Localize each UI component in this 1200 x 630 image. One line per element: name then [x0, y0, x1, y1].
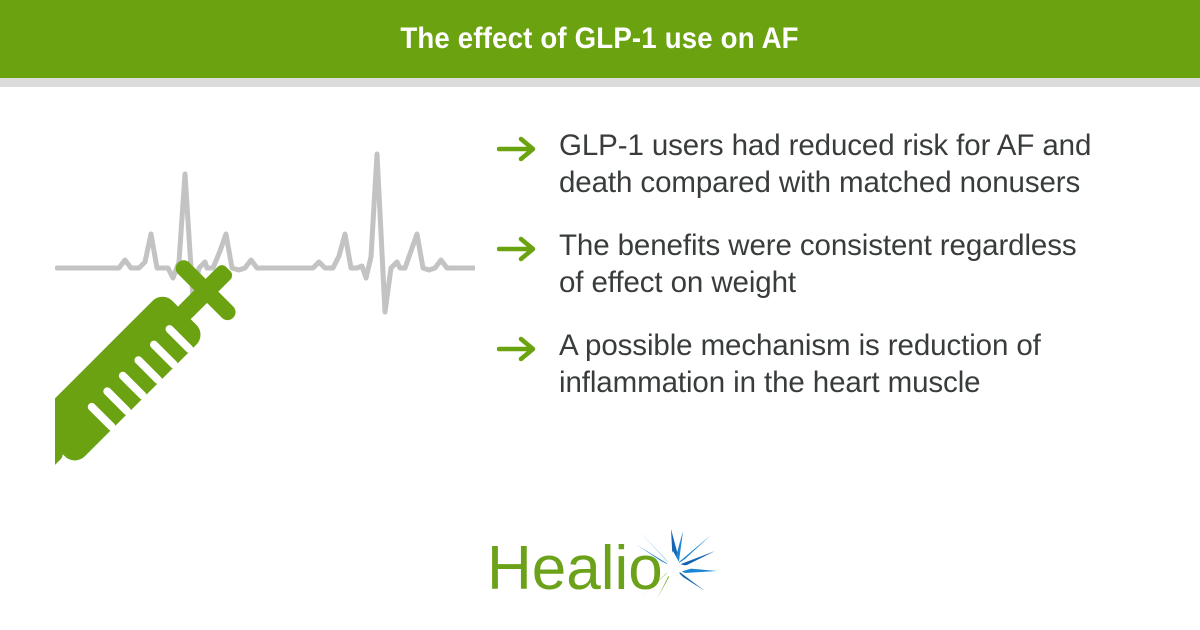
header-bar: The effect of GLP-1 use on AF: [0, 0, 1200, 78]
healio-wordmark: Healio: [487, 534, 663, 603]
syringe-icon: [55, 241, 255, 558]
infographic-card: The effect of GLP-1 use on AF: [0, 0, 1200, 630]
page-title: The effect of GLP-1 use on AF: [401, 22, 799, 56]
bullet-text: A possible mechanism is reduction of inf…: [559, 327, 1097, 401]
arrow-right-icon: [497, 127, 559, 162]
bullet-item: The benefits were consistent regardless …: [497, 227, 1097, 301]
arrow-right-icon: [497, 327, 559, 362]
bullet-text: The benefits were consistent regardless …: [559, 227, 1097, 301]
healio-logo: Healio: [487, 527, 727, 609]
bullet-list: GLP-1 users had reduced risk for AF and …: [497, 127, 1097, 401]
bullet-text: GLP-1 users had reduced risk for AF and …: [559, 127, 1097, 201]
bullet-item: GLP-1 users had reduced risk for AF and …: [497, 127, 1097, 201]
arrow-right-icon: [497, 227, 559, 262]
bullet-item: A possible mechanism is reduction of inf…: [497, 327, 1097, 401]
header-divider: [0, 78, 1200, 87]
ecg-waveform-icon: [57, 154, 474, 312]
illustration-panel: [55, 107, 475, 607]
body-area: GLP-1 users had reduced risk for AF and …: [0, 87, 1200, 630]
